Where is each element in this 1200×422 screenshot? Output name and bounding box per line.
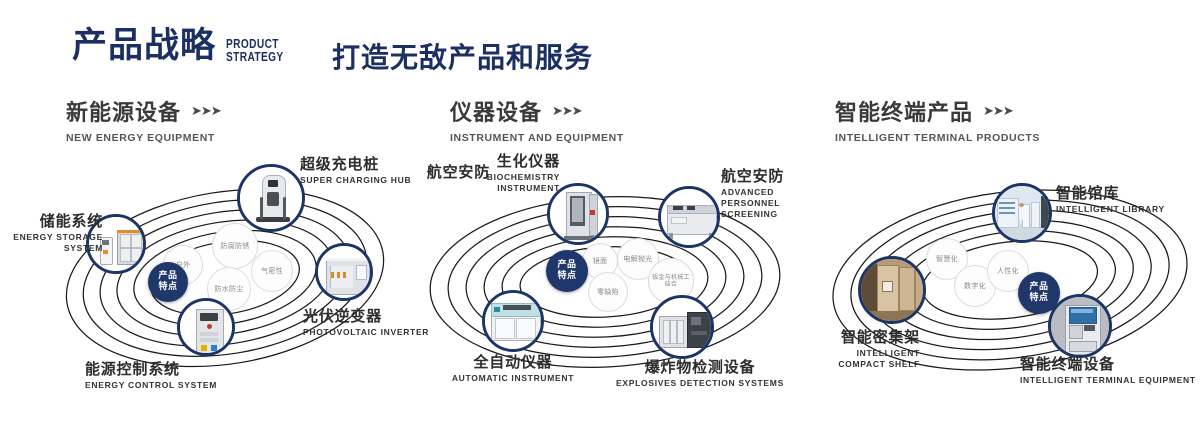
charging-pile-photo (240, 167, 302, 229)
section-title-new-energy: 新能源设备 ➤➤➤ NEW ENERGY EQUIPMENT (66, 95, 221, 144)
core-bubble-product-features: 产品 特点 (148, 262, 188, 302)
feature-label: 零缺陷 (597, 288, 619, 297)
label-cn: 智能馆库 (1056, 184, 1165, 202)
chevron-right-icon: ➤➤➤ (983, 105, 1013, 118)
section-title-cn: 新能源设备 ➤➤➤ (66, 95, 221, 127)
node-intelligent-compact-shelf[interactable] (858, 256, 926, 324)
page-slogan: 打造无敌产品和服务 (332, 36, 593, 76)
node-explosives-detection-systems[interactable] (650, 295, 714, 359)
label-en: AUTOMATIC INSTRUMENT (428, 373, 598, 384)
section-title-cn-text: 新能源设备 (66, 95, 181, 127)
feature-label: 数字化 (964, 282, 986, 291)
feature-label: 防腐防锈 (220, 242, 249, 250)
page-title: 产品战略 (72, 26, 216, 66)
label-en: EXPLOSIVES DETECTION SYSTEMS (605, 378, 795, 389)
section-title-cn: 智能终端产品 ➤➤➤ (835, 95, 1040, 127)
feature-label: 镜面 (593, 257, 608, 266)
label-automatic-instrument: 全自动仪器 AUTOMATIC INSTRUMENT (428, 353, 598, 384)
label-en: ADVANCED PERSONNEL SCREENING (721, 187, 831, 220)
product-strategy-infographic: 产品战略 PRODUCT STRATEGY 打造无敌产品和服务 新能源设备 ➤➤… (0, 0, 1200, 422)
label-en: INTELLIGENT TERMINAL EQUIPMENT (1020, 375, 1196, 386)
node-photovoltaic-inverter[interactable] (315, 243, 373, 301)
label-en: INTELLIGENT COMPACT SHELF (810, 348, 920, 370)
label-cn: 智能密集架 (810, 328, 920, 346)
label-energy-storage-system: 储能系统 ENERGY STORAGE SYSTEM (3, 212, 103, 254)
label-intelligent-compact-shelf: 智能密集架 INTELLIGENT COMPACT SHELF (810, 328, 920, 370)
core-line1: 产品 (158, 271, 177, 282)
label-energy-control-system: 能源控制系统 ENERGY CONTROL SYSTEM (85, 360, 217, 391)
inverter-cabinet-photo (318, 246, 370, 298)
page-header: 产品战略 PRODUCT STRATEGY (72, 26, 300, 66)
node-advanced-personnel-screening[interactable] (658, 186, 720, 248)
biochem-scanner-photo (550, 186, 606, 242)
feature-label: 电解抛光 (623, 255, 652, 263)
label-cn: 生化仪器 (430, 152, 560, 170)
kiosk-terminal-photo (1051, 297, 1109, 355)
cluster-instrument: 镜面 电解抛光 零缺陷 钣金与机械工结合 产品 特点 (410, 150, 800, 400)
node-automatic-instrument[interactable] (482, 290, 544, 352)
cluster-intelligent-terminal: 智慧化 数字化 人性化 产品 特点 (820, 150, 1200, 400)
feature-label: 智慧化 (936, 255, 958, 264)
auto-analyzer-photo (485, 293, 541, 349)
label-explosives-detection-systems: 爆炸物检测设备 EXPLOSIVES DETECTION SYSTEMS (605, 358, 795, 389)
screening-machine-photo (661, 189, 717, 245)
label-cn: 爆炸物检测设备 (605, 358, 795, 376)
core-line1: 产品 (557, 260, 576, 271)
label-cn: 储能系统 (3, 212, 103, 230)
section-title-en: INTELLIGENT TERMINAL PRODUCTS (835, 132, 1040, 144)
feature-label: 钣金与机械工结合 (649, 274, 693, 289)
label-intelligent-terminal-equipment: 智能终端设备 INTELLIGENT TERMINAL EQUIPMENT (1020, 355, 1196, 386)
label-en: ENERGY CONTROL SYSTEM (85, 380, 217, 391)
core-line1: 产品 (1029, 282, 1048, 293)
core-bubble-product-features: 产品 特点 (546, 250, 588, 292)
page-title-english-line2: STRATEGY (226, 50, 284, 63)
core-line2: 特点 (1029, 293, 1048, 304)
chevron-right-icon: ➤➤➤ (191, 105, 221, 118)
section-title-instrument: 仪器设备 ➤➤➤ INSTRUMENT AND EQUIPMENT (450, 95, 624, 144)
feature-bubble: 零缺陷 (588, 272, 628, 312)
feature-bubble: 防腐防锈 (212, 223, 258, 269)
section-title-cn-text: 仪器设备 (450, 95, 542, 127)
label-cn: 能源控制系统 (85, 360, 217, 378)
core-line2: 特点 (158, 282, 177, 293)
explosive-detector-photo (653, 298, 711, 356)
node-super-charging-hub[interactable] (237, 164, 305, 232)
section-title-intelligent-terminal: 智能终端产品 ➤➤➤ INTELLIGENT TERMINAL PRODUCTS (835, 95, 1040, 144)
label-cn: 航空安防 (721, 167, 831, 185)
section-title-en: NEW ENERGY EQUIPMENT (66, 132, 221, 144)
compact-shelf-photo (861, 259, 923, 321)
node-energy-control-system[interactable] (177, 298, 235, 356)
label-biochemistry-instrument: 生化仪器 BIOCHEMISTRY INSTRUMENT (430, 152, 560, 194)
label-intelligent-library: 智能馆库 INTELLIGENT LIBRARY (1056, 184, 1165, 215)
feature-bubble: 气密性 (251, 250, 293, 292)
feature-label: 防水防尘 (214, 285, 243, 294)
section-title-cn-text: 智能终端产品 (835, 95, 973, 127)
label-cn: 全自动仪器 (428, 353, 598, 371)
chevron-right-icon: ➤➤➤ (552, 105, 582, 118)
label-en: INTELLIGENT LIBRARY (1056, 204, 1165, 215)
label-en: BIOCHEMISTRY INSTRUMENT (430, 172, 560, 194)
node-intelligent-library[interactable] (992, 183, 1052, 243)
page-title-english: PRODUCT STRATEGY (226, 37, 284, 63)
section-title-cn: 仪器设备 ➤➤➤ (450, 95, 624, 127)
feature-label: 人性化 (997, 267, 1019, 276)
cluster-new-energy: 户外 防腐防锈 防水防尘 气密性 产品 特点 (55, 150, 395, 400)
label-advanced-personnel-screening: 航空安防 ADVANCED PERSONNEL SCREENING (721, 167, 831, 220)
node-intelligent-terminal-equipment[interactable] (1048, 294, 1112, 358)
label-en: ENERGY STORAGE SYSTEM (3, 232, 103, 254)
section-title-en: INSTRUMENT AND EQUIPMENT (450, 132, 624, 144)
core-line2: 特点 (557, 271, 576, 282)
library-room-photo (995, 186, 1049, 240)
control-cabinet-photo (180, 301, 232, 353)
feature-label: 气密性 (261, 267, 283, 276)
label-cn: 智能终端设备 (1020, 355, 1196, 373)
